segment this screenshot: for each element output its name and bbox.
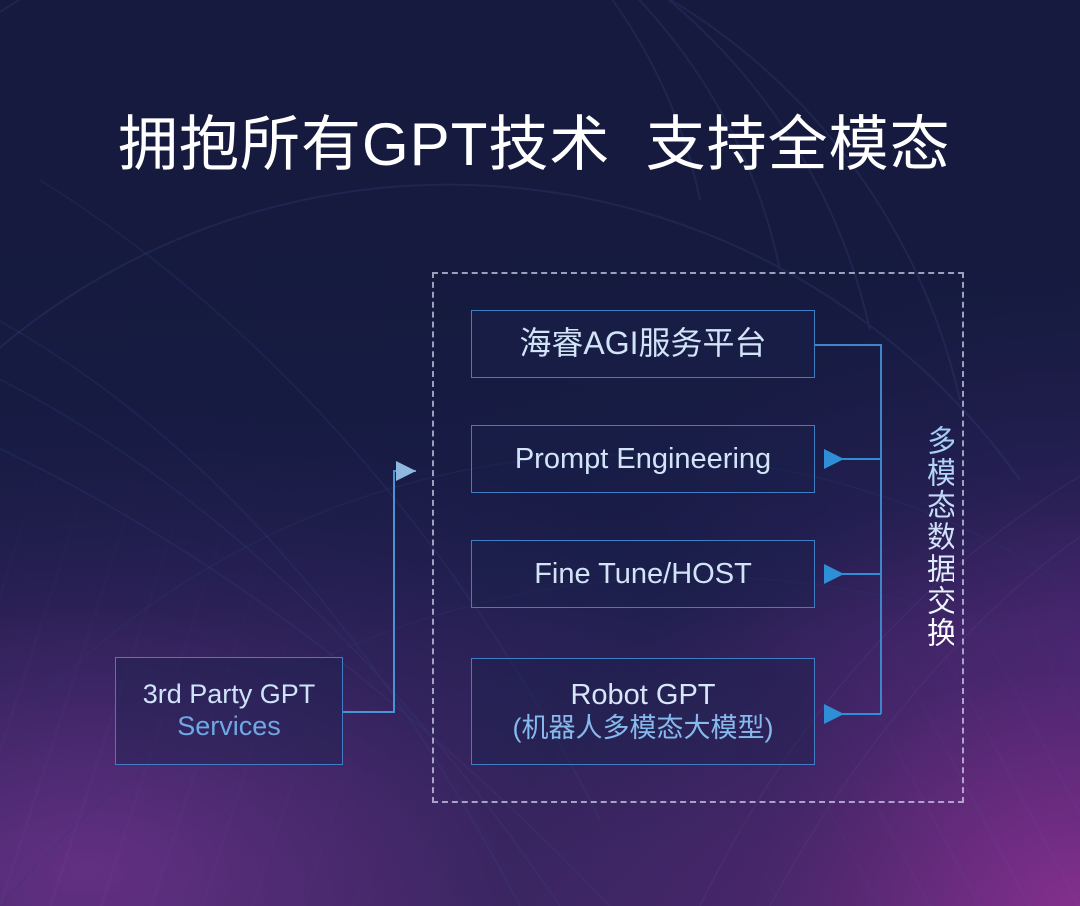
side-label-multimodal-exchange: 多模态数据交换 <box>914 425 954 649</box>
node-prompt-engineering[interactable]: Prompt Engineering <box>471 425 815 493</box>
node-label-line1: 3rd Party GPT <box>143 679 316 711</box>
node-robot-gpt[interactable]: Robot GPT (机器人多模态大模型) <box>471 658 815 765</box>
node-label-line1: Fine Tune/HOST <box>534 557 752 591</box>
node-label-line1: Prompt Engineering <box>515 442 771 476</box>
node-label-line1: 海睿AGI服务平台 <box>519 325 766 363</box>
node-agi-platform[interactable]: 海睿AGI服务平台 <box>471 310 815 378</box>
page-title: 拥抱所有GPT技术 支持全模态 <box>118 112 951 178</box>
node-label-line2: (机器人多模态大模型) <box>513 713 774 745</box>
slide-canvas: 拥抱所有GPT技术 支持全模态 <box>0 0 1080 906</box>
node-label-line2: Services <box>177 711 281 743</box>
node-label-line1: Robot GPT <box>570 678 715 712</box>
node-third-party-gpt-services[interactable]: 3rd Party GPT Services <box>115 657 343 765</box>
node-fine-tune-host[interactable]: Fine Tune/HOST <box>471 540 815 608</box>
